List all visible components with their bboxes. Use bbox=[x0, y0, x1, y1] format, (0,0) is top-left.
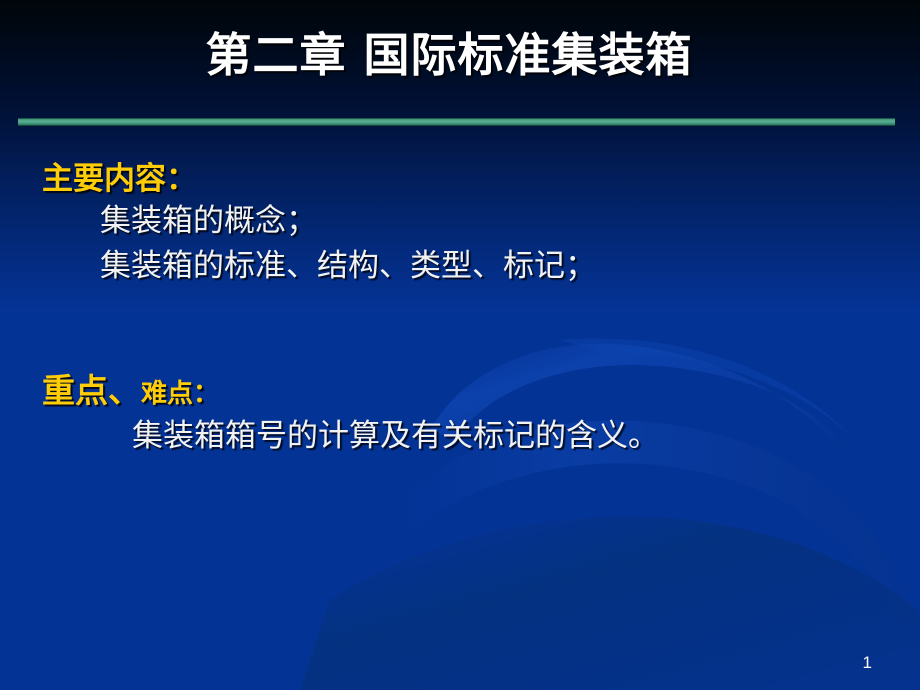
divider-line-bottom bbox=[18, 125, 895, 126]
overview-item-concept: 集装箱的概念； bbox=[100, 206, 317, 237]
keypoints-heading-major: 重点、 bbox=[42, 371, 141, 410]
slide-title-block: 第二章 国际标准集装箱 bbox=[0, 30, 920, 81]
page-number: 1 bbox=[863, 653, 872, 673]
overview-item-standards: 集装箱的标准、结构、类型、标记； bbox=[100, 251, 596, 282]
page-title: 第二章 国际标准集装箱 bbox=[205, 30, 692, 81]
keypoints-heading-minor: 难点： bbox=[141, 379, 219, 409]
slide-background-gradient bbox=[0, 0, 920, 690]
keypoints-item-container-number: 集装箱箱号的计算及有关标记的含义。 bbox=[132, 421, 659, 452]
presentation-slide: 第二章 国际标准集装箱 主要内容： 集装箱的概念； 集装箱的标准、结构、类型、标… bbox=[0, 0, 920, 690]
overview-heading: 主要内容： bbox=[42, 164, 197, 195]
keypoints-heading: 重点、难点： bbox=[42, 374, 219, 408]
title-divider-rule bbox=[18, 118, 895, 128]
